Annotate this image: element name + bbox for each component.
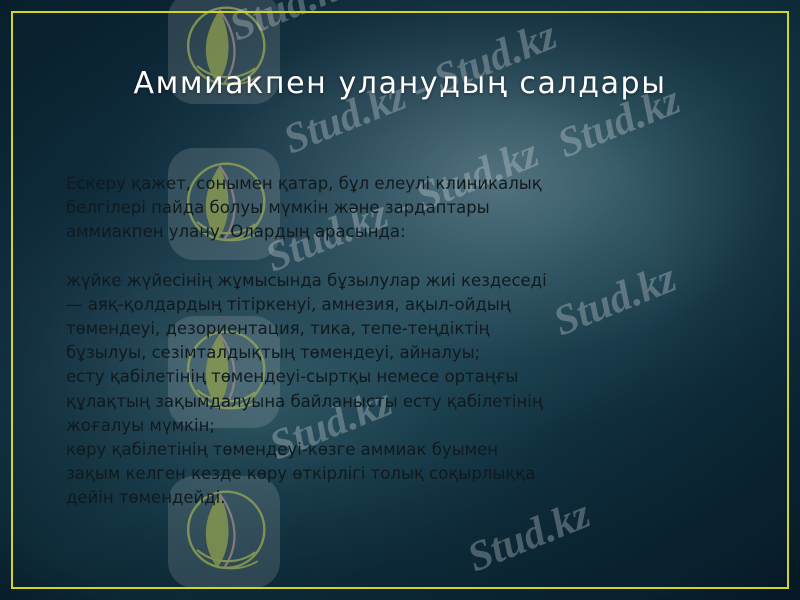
slide-body-text: Ескеру қажет, сонымен қатар, бұл елеулі … [66, 172, 746, 511]
body-paragraph: жүйке жүйесінің жұмысында бұзылулар жиі … [66, 269, 746, 511]
body-line: аммиакпен улану. Олардың арасында: [66, 220, 746, 244]
page-title: Аммиакпен уланудың салдары [0, 66, 800, 101]
body-line: — аяқ-қолдардың тітіркенуі, амнезия, ақы… [66, 293, 746, 317]
body-line: зақым келген кезде көру өткірлігі толық … [66, 462, 746, 486]
slide-canvas: Stud.kz - Stud.kzStud.kz - Stud.kzStud.k… [0, 0, 800, 600]
body-line: төмендеуі, дезориентация, тика, тепе-тең… [66, 317, 746, 341]
body-line: есту қабілетінің төмендеуі-сыртқы немесе… [66, 365, 746, 389]
body-line: жоғалуы мүмкін; [66, 414, 746, 438]
body-line: жүйке жүйесінің жұмысында бұзылулар жиі … [66, 269, 746, 293]
body-line: құлақтың зақымдалуына байланысты есту қа… [66, 390, 746, 414]
body-line: көру қабілетінің төмендеуі-көзге аммиак … [66, 438, 746, 462]
body-line: белгілері пайда болуы мүмкін және зардап… [66, 196, 746, 220]
body-paragraph: Ескеру қажет, сонымен қатар, бұл елеулі … [66, 172, 746, 245]
body-line: дейін төмендейді. [66, 486, 746, 510]
body-line: Ескеру қажет, сонымен қатар, бұл елеулі … [66, 172, 746, 196]
body-line: бұзылуы, сезімталдықтың төмендеуі, айнал… [66, 341, 746, 365]
